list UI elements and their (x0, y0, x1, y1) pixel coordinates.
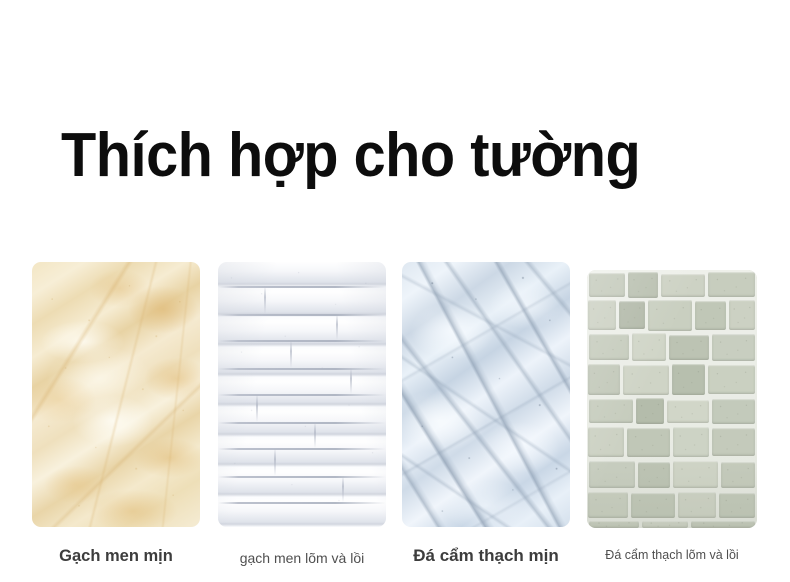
texture-image-blue-grey-carrara-marble[interactable] (402, 262, 570, 527)
stone-shading-overlay-icon (587, 270, 757, 528)
texture-image-grey-green-stone-wall[interactable] (587, 270, 757, 528)
brick-shading-overlay-icon (218, 262, 386, 527)
texture-image-beige-onyx-marble[interactable] (32, 262, 200, 527)
texture-image-white-split-face-brick[interactable] (218, 262, 386, 527)
marble-fleck-overlay-icon (402, 262, 570, 527)
texture-gallery: Gạch men mịn (0, 0, 790, 582)
marble-speckle-overlay-icon (32, 262, 200, 527)
texture-caption-0: Gạch men mịn (32, 547, 200, 566)
texture-caption-1: gạch men lõm và lồi (218, 550, 386, 566)
texture-caption-2: Đá cẩm thạch mịn (402, 546, 570, 566)
texture-caption-3: Đá cẩm thạch lõm và lồi (587, 548, 757, 562)
